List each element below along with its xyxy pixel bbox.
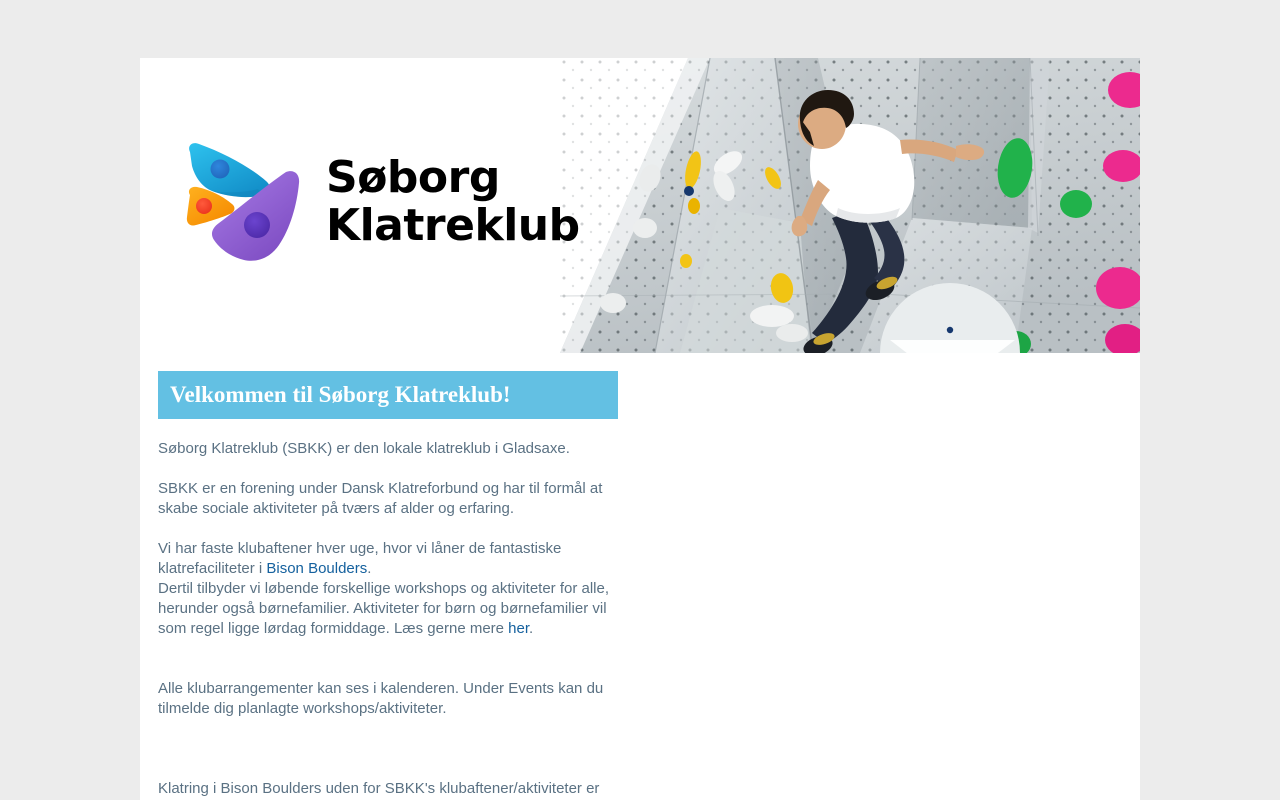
page-title: Velkommen til Søborg Klatreklub! xyxy=(170,381,618,408)
workshops-text-before: Dertil tilbyder vi løbende forskellige w… xyxy=(158,580,609,637)
paragraph-egen-regning: Klatring i Bison Boulders uden for SBKK'… xyxy=(158,779,618,800)
hero-photo xyxy=(560,58,1140,353)
page-root: Søborg Klatreklub Velkommen til Søborg K… xyxy=(0,0,1280,800)
paragraph-workshops: Dertil tilbyder vi løbende forskellige w… xyxy=(158,579,618,639)
hero-section: Søborg Klatreklub xyxy=(140,58,1140,353)
link-bison-boulders[interactable]: Bison Boulders xyxy=(266,560,367,577)
paragraph-forening: SBKK er en forening under Dansk Klatrefo… xyxy=(158,479,618,519)
main-text-column: Velkommen til Søborg Klatreklub! Søborg … xyxy=(158,371,628,800)
welcome-banner: Velkommen til Søborg Klatreklub! xyxy=(158,371,618,419)
klubaftener-text-after: . xyxy=(367,560,371,577)
content-column: Søborg Klatreklub Velkommen til Søborg K… xyxy=(140,58,1140,800)
paragraph-kalender: Alle klubarrangementer kan ses i kalende… xyxy=(158,679,618,719)
logo-mark-icon xyxy=(178,139,308,269)
paragraph-klubaftener: Vi har faste klubaftener hver uge, hvor … xyxy=(158,539,618,579)
link-her[interactable]: her xyxy=(508,620,529,637)
paragraph-intro: Søborg Klatreklub (SBKK) er den lokale k… xyxy=(158,439,618,459)
workshops-text-after: . xyxy=(529,620,533,637)
site-logo[interactable]: Søborg Klatreklub xyxy=(178,134,578,274)
logo-wordmark: Søborg Klatreklub xyxy=(326,154,580,255)
